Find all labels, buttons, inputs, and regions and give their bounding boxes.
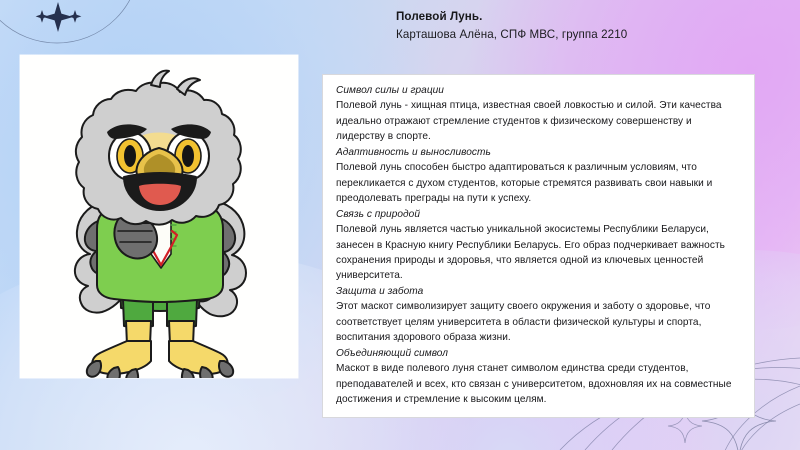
section-body-3: Полевой лунь является частью уникальной …	[336, 222, 742, 284]
page-subtitle: Карташова Алёна, СПФ МВС, группа 2210	[396, 25, 776, 44]
section-body-1: Полевой лунь - хищная птица, известная с…	[336, 98, 742, 144]
page-title: Полевой Лунь.	[396, 8, 776, 25]
mascot-left-pupil	[124, 145, 136, 167]
circle-outline	[0, 0, 140, 43]
title-block: Полевой Лунь. Карташова Алёна, СПФ МВС, …	[396, 8, 776, 44]
section-heading-1: Символ силы и грации	[336, 83, 742, 98]
section-heading-5: Объединяющий символ	[336, 346, 742, 361]
sparkle-icon	[36, 2, 82, 32]
mascot-illustration	[20, 55, 298, 378]
section-body-2: Полевой лунь способен быстро адаптироват…	[336, 160, 742, 206]
section-heading-2: Адаптивность и выносливость	[336, 145, 742, 160]
mascot-right-claw-1	[219, 361, 233, 377]
mascot-left-claw-1	[87, 361, 101, 377]
mascot-image-card	[20, 55, 298, 378]
section-heading-3: Связь с природой	[336, 207, 742, 222]
section-heading-4: Защита и забота	[336, 284, 742, 299]
section-body-5: Маскот в виде полевого луня станет симво…	[336, 361, 742, 407]
slide-canvas: Полевой Лунь. Карташова Алёна, СПФ МВС, …	[0, 0, 800, 450]
section-body-4: Этот маскот символизирует защиту своего …	[336, 299, 742, 345]
mascot-right-pupil	[182, 145, 194, 167]
description-card: Символ силы и грации Полевой лунь - хищн…	[322, 74, 755, 418]
